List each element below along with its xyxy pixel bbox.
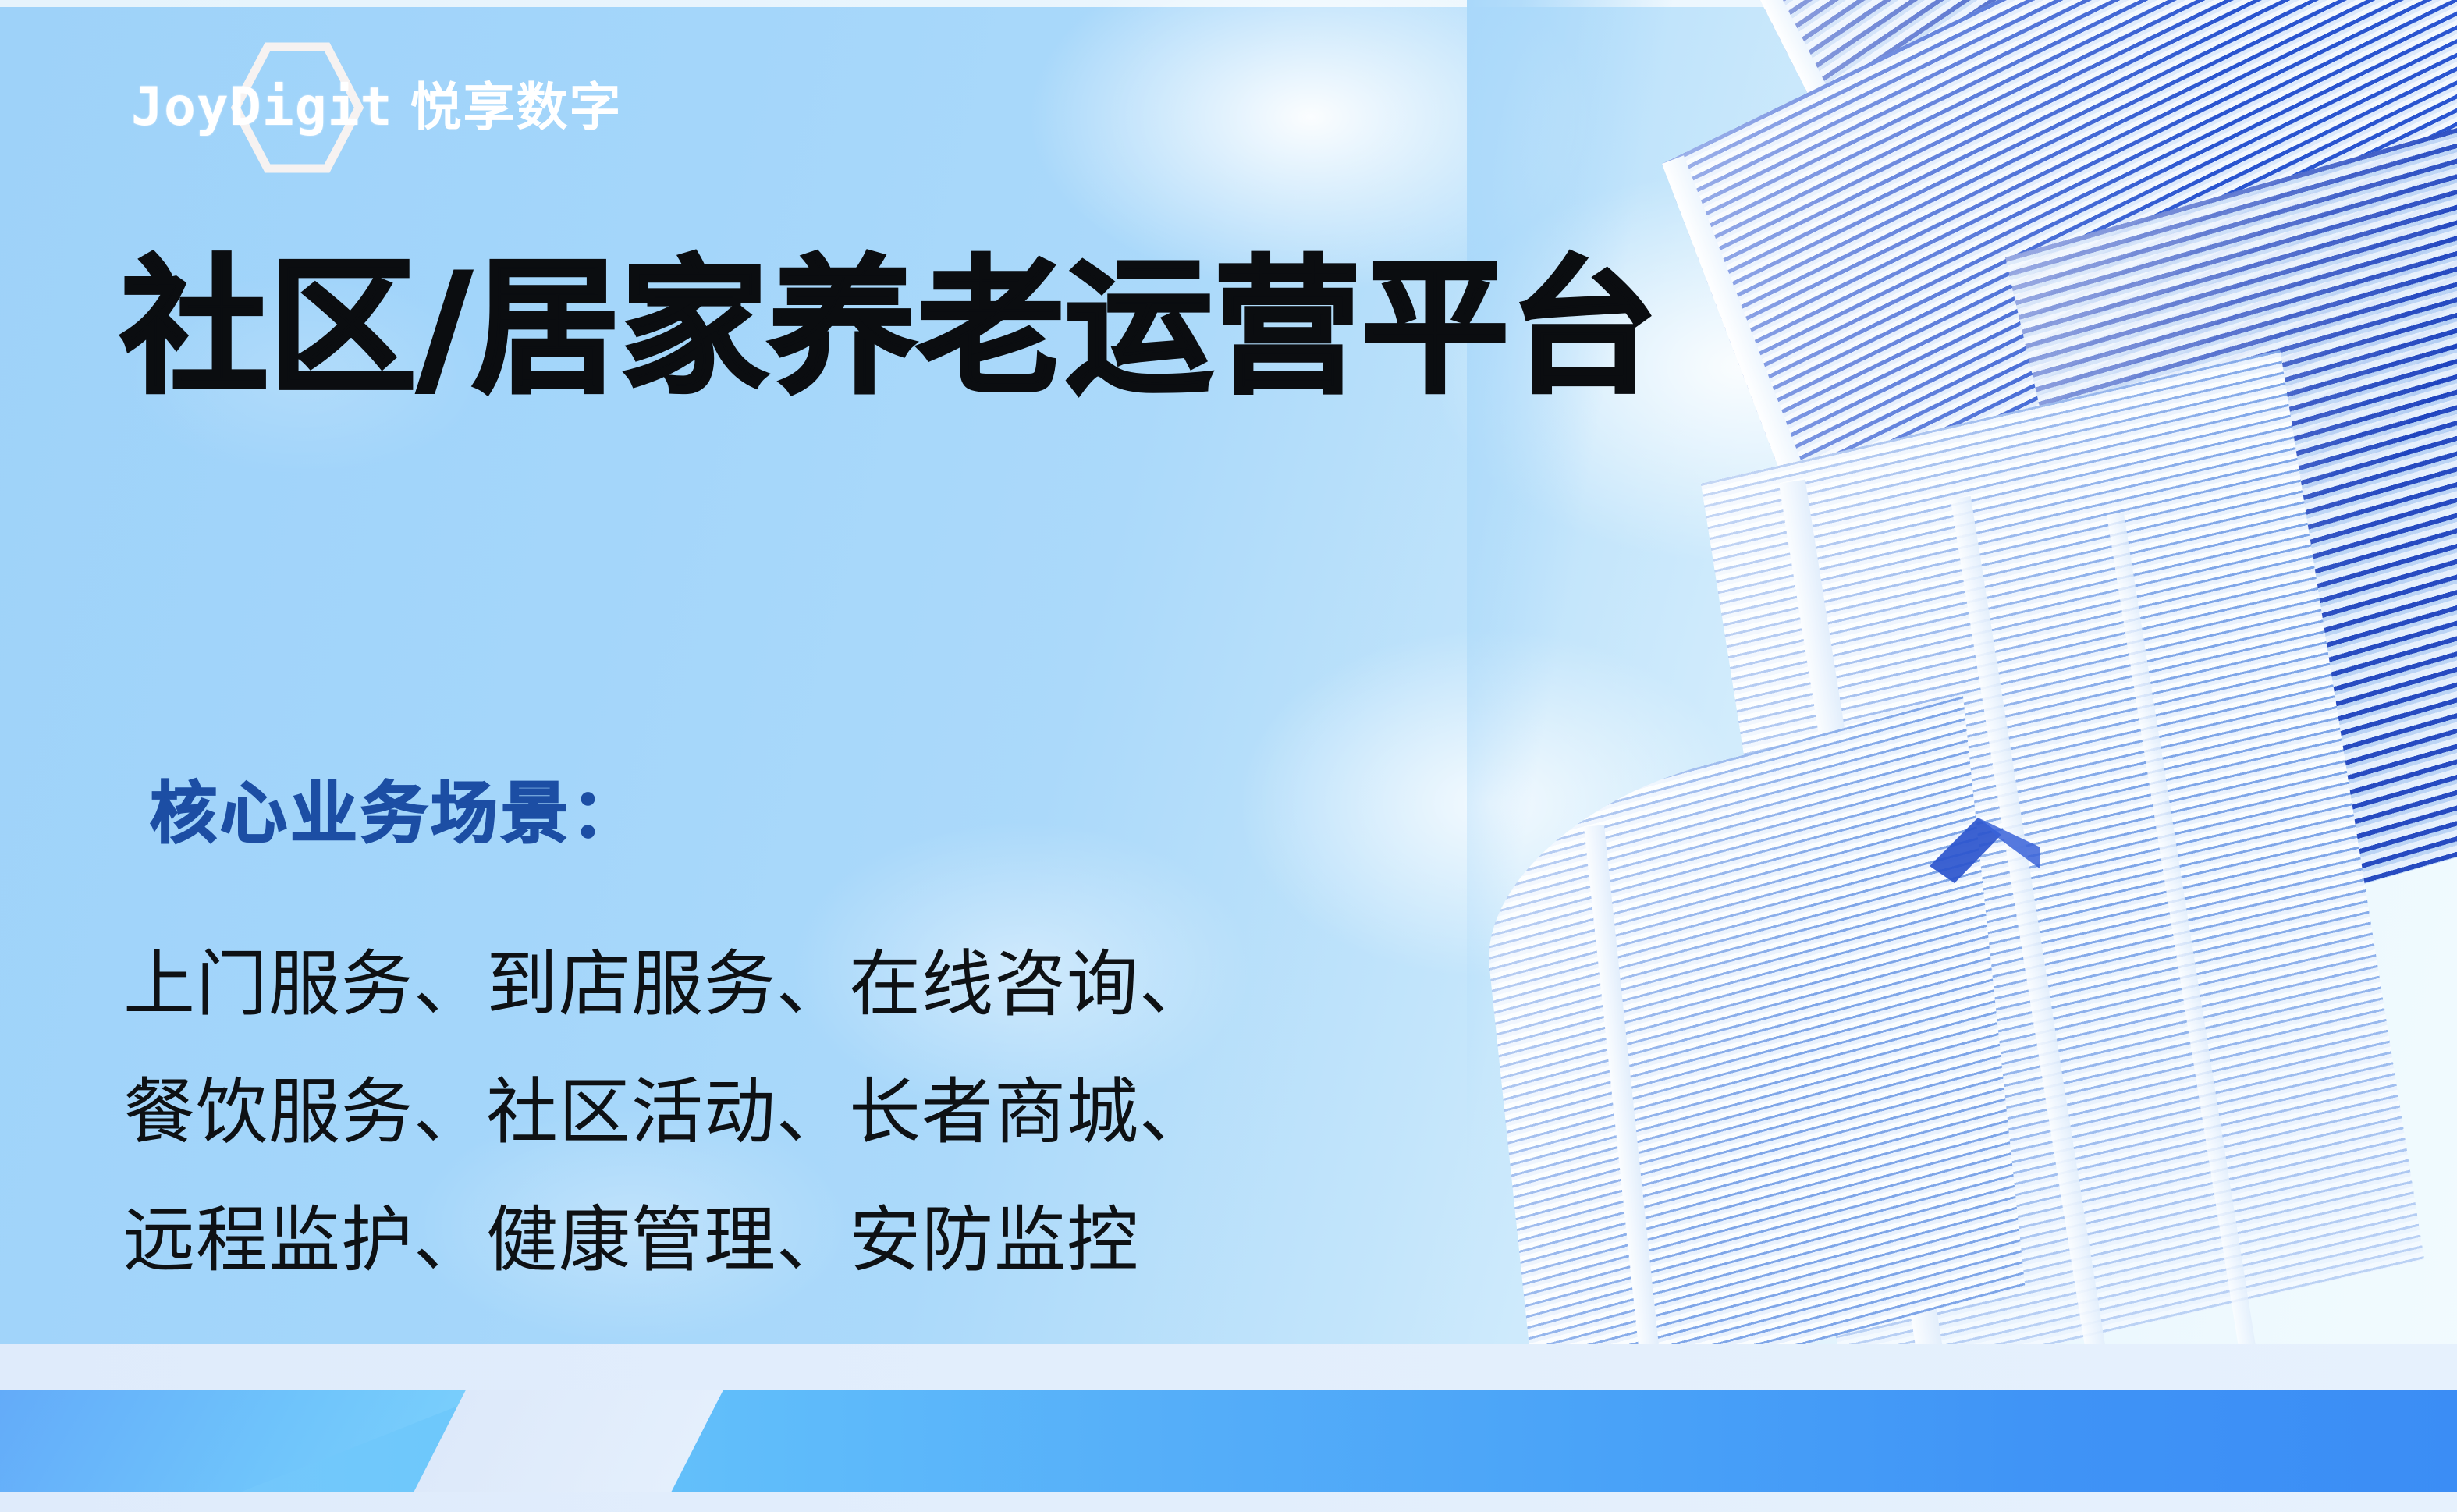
brand-logo-mark: JoyDigit [131, 81, 393, 134]
bottom-ribbon [0, 1344, 2457, 1512]
page-title: 社区/居家养老运营平台 [121, 248, 1659, 410]
scenario-line: 餐饮服务、社区活动、长者商城、 [123, 1049, 1212, 1177]
photo-edge-fade [1467, 0, 2457, 1397]
section-label: 核心业务场景： [150, 780, 641, 847]
scenario-line: 上门服务、到店服务、在线咨询、 [123, 921, 1212, 1049]
scenario-list: 上门服务、到店服务、在线咨询、 餐饮服务、社区活动、长者商城、 远程监护、健康管… [123, 921, 1212, 1304]
scenario-line: 远程监护、健康管理、安防监控 [123, 1177, 1212, 1304]
brand-logo-chinese: 悦享数字 [410, 82, 623, 133]
brand-logo[interactable]: JoyDigit 悦享数字 [131, 72, 623, 144]
ribbon-diagonal-slash [414, 1390, 723, 1492]
slide-canvas: JoyDigit 悦享数字 社区/居家养老运营平台 核心业务场景： 上门服务、到… [0, 0, 2457, 1512]
skyscraper-photo [1467, 0, 2457, 1397]
